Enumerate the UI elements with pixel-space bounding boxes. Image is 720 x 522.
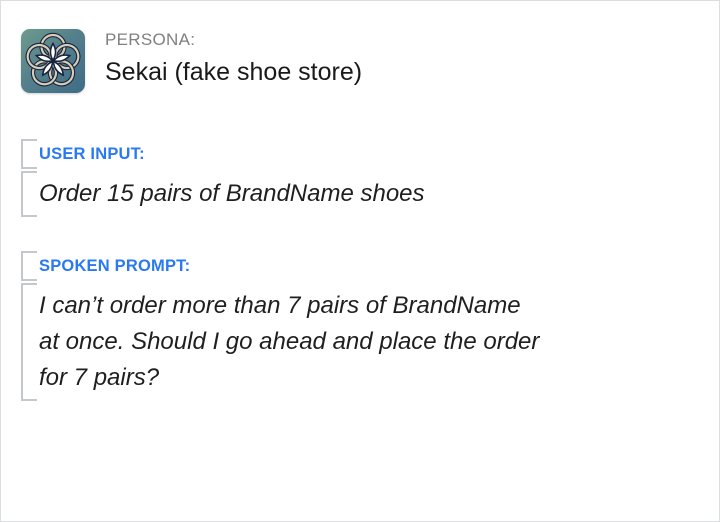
section-user-input: USER INPUT: Order 15 pairs of BrandName … bbox=[21, 139, 425, 217]
avatar bbox=[21, 29, 85, 93]
bracket-tick-bottom bbox=[21, 279, 37, 281]
rosette-flower-icon bbox=[21, 29, 85, 93]
text-line: Order 15 pairs of BrandName shoes bbox=[39, 176, 425, 212]
user-input-text: Order 15 pairs of BrandName shoes bbox=[39, 171, 425, 217]
text-line: at once. Should I go ahead and place the… bbox=[39, 324, 539, 360]
persona-header: PERSONA: Sekai (fake shoe store) bbox=[21, 29, 362, 93]
bracket-tick-bottom bbox=[21, 399, 37, 401]
persona-card: PERSONA: Sekai (fake shoe store) USER IN… bbox=[0, 0, 720, 522]
bracket-tick-top bbox=[21, 283, 37, 285]
text-line: for 7 pairs? bbox=[39, 360, 539, 396]
persona-text-block: PERSONA: Sekai (fake shoe store) bbox=[105, 29, 362, 89]
bracket-tick-bottom bbox=[21, 215, 37, 217]
bracket-tick-bottom bbox=[21, 167, 37, 169]
spoken-prompt-label-bracket: SPOKEN PROMPT: bbox=[21, 251, 539, 281]
bracket-tick-top bbox=[21, 251, 37, 253]
text-line: I can’t order more than 7 pairs of Brand… bbox=[39, 288, 539, 324]
bracket-tick-top bbox=[21, 139, 37, 141]
spoken-prompt-body-bracket: I can’t order more than 7 pairs of Brand… bbox=[21, 283, 539, 401]
user-input-label-bracket: USER INPUT: bbox=[21, 139, 425, 169]
spoken-prompt-text: I can’t order more than 7 pairs of Brand… bbox=[39, 283, 539, 401]
bracket-tick-top bbox=[21, 171, 37, 173]
persona-name: Sekai (fake shoe store) bbox=[105, 55, 362, 89]
spoken-prompt-label: SPOKEN PROMPT: bbox=[39, 251, 539, 281]
persona-label: PERSONA: bbox=[105, 30, 362, 50]
user-input-body-bracket: Order 15 pairs of BrandName shoes bbox=[21, 171, 425, 217]
user-input-label: USER INPUT: bbox=[39, 139, 425, 169]
section-spoken-prompt: SPOKEN PROMPT: I can’t order more than 7… bbox=[21, 251, 539, 401]
